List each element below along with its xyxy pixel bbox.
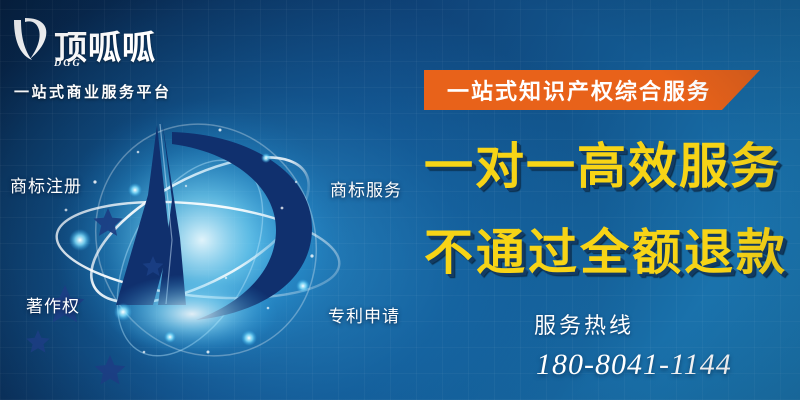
promotional-banner: 顶呱呱 DGG 一站式商业服务平台 商标注册 商标服务 著作权 专利申请 一站式… (0, 0, 800, 400)
feature-label-trademark-registration: 商标注册 (10, 172, 82, 197)
logo-row: 顶呱呱 (8, 12, 188, 64)
feature-label-trademark-service: 商标服务 (330, 176, 402, 201)
promo-headline-secondary: 不通过全额退款 (424, 228, 788, 277)
promo-ribbon-text: 一站式知识产权综合服务 (447, 74, 711, 106)
emblem-graphic (20, 90, 380, 390)
promo-headline-primary: 一对一高效服务 (424, 142, 781, 191)
promo-ribbon: 一站式知识产权综合服务 (424, 70, 760, 110)
dgg-leaf-logo-icon (8, 14, 52, 64)
feature-label-copyright: 著作权 (26, 292, 80, 317)
brand-tagline: 一站式商业服务平台 (14, 81, 188, 102)
feature-label-patent-application: 专利申请 (328, 302, 400, 327)
hotline-number[interactable]: 180-8041-1144 (536, 348, 732, 382)
brand-logo[interactable]: 顶呱呱 DGG 一站式商业服务平台 (8, 12, 188, 102)
hotline-label: 服务热线 (534, 308, 634, 340)
